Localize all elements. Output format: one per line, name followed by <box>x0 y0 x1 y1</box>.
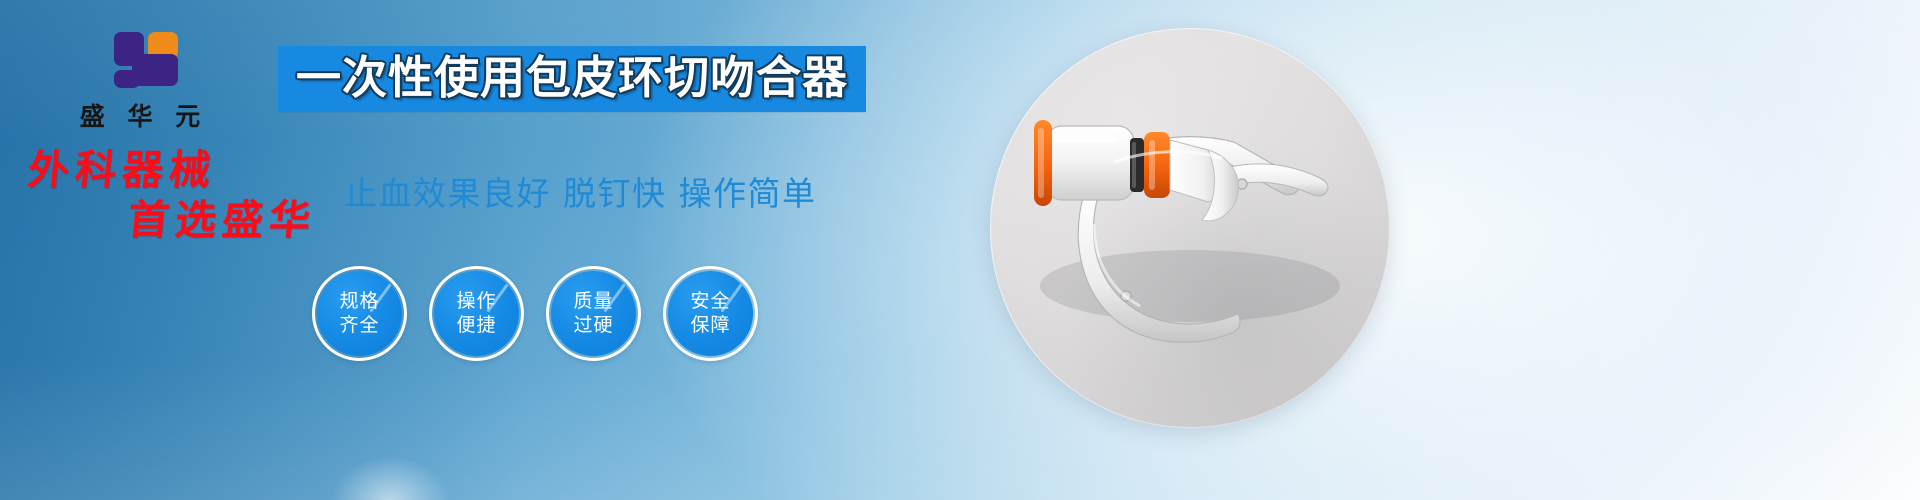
brand-logo[interactable]: 盛 华 元 <box>60 28 220 133</box>
feature-circle-3-line-2: 过硬 <box>573 314 613 337</box>
feature-circle-4[interactable]: 安全 保障 <box>663 266 758 361</box>
feature-circle-3[interactable]: 质量 过硬 <box>546 266 641 361</box>
feature-circle-2-line-1: 操作 <box>456 290 496 313</box>
main-title-box: 一次性使用包皮环切吻合器 <box>278 46 866 112</box>
feature-circle-1[interactable]: 规格 齐全 <box>312 266 407 361</box>
background-blob <box>330 456 450 500</box>
calligraphy-slogan: 外科器械 首选盛华 <box>22 150 352 242</box>
subtitle: 止血效果良好 脱钉快 操作简单 <box>344 167 816 215</box>
product-photo[interactable] <box>990 28 1390 428</box>
shenghuayuan-blocks-logo-icon <box>100 28 180 90</box>
feature-circle-2-line-2: 便捷 <box>456 314 496 337</box>
calligraphy-line-1: 外科器械 <box>26 150 354 192</box>
feature-circle-1-line-2: 齐全 <box>339 314 379 337</box>
feature-circle-2[interactable]: 操作 便捷 <box>429 266 524 361</box>
feature-circle-4-line-1: 安全 <box>690 290 730 313</box>
feature-circle-1-line-1: 规格 <box>339 290 379 313</box>
feature-circle-4-line-2: 保障 <box>690 314 730 337</box>
feature-circle-list: 规格 齐全 操作 便捷 质量 过硬 安全 保障 <box>312 266 758 361</box>
calligraphy-line-2: 首选盛华 <box>126 200 354 242</box>
page-title: 一次性使用包皮环切吻合器 <box>296 54 848 101</box>
circumcision-stapler-device-photo-icon <box>990 28 1390 428</box>
logo-block-bottom-left <box>114 70 140 88</box>
feature-circle-3-line-1: 质量 <box>573 290 613 313</box>
brand-name: 盛 华 元 <box>60 97 220 133</box>
